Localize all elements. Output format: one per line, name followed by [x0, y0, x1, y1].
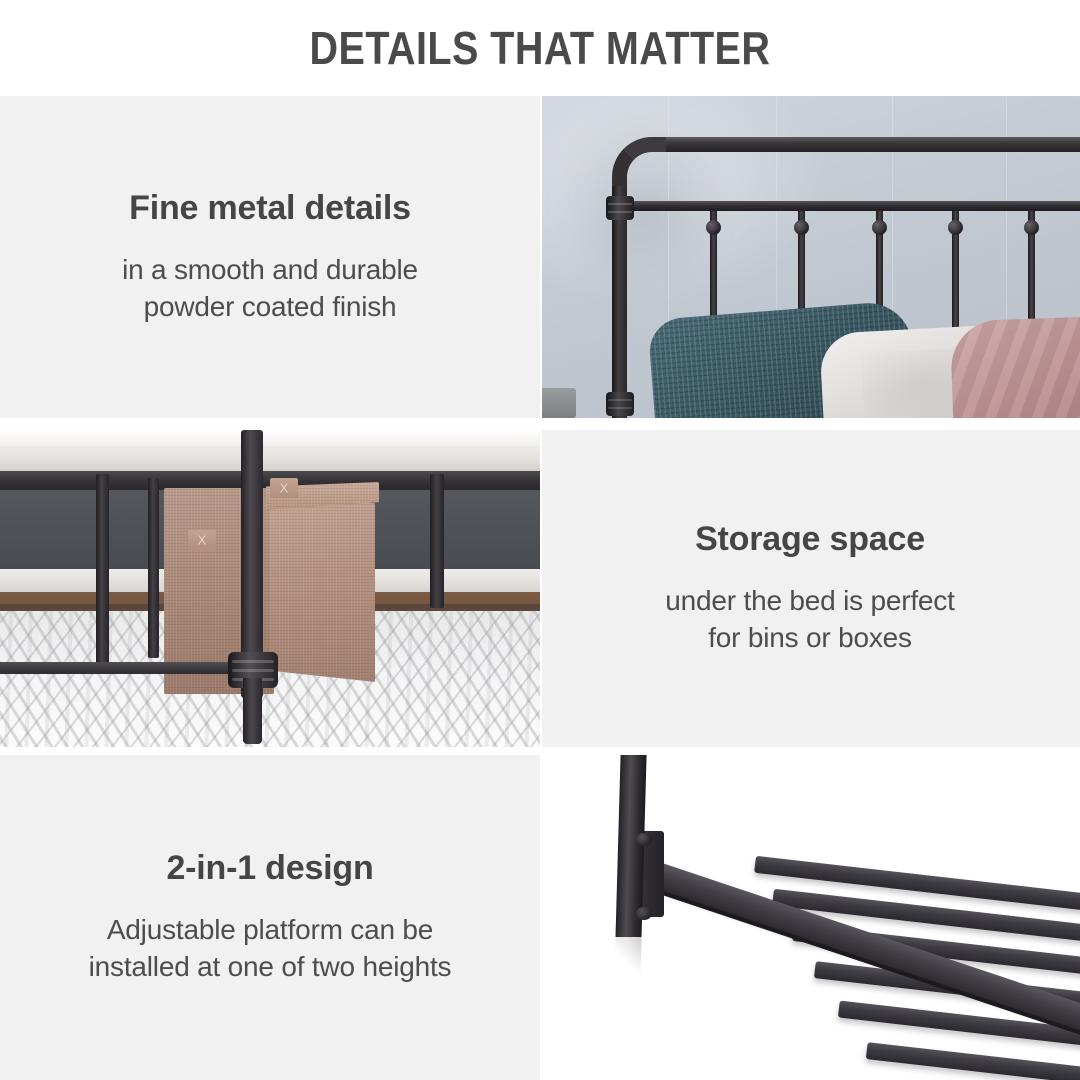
- feature-text-storage-space: Storage space under the bed is perfect f…: [540, 430, 1080, 747]
- bed-leg: [148, 478, 159, 658]
- headboard-post: [612, 186, 627, 418]
- collar-ring: [232, 669, 274, 672]
- page-title: DETAILS THAT MATTER: [310, 21, 771, 75]
- feature-subtext: under the bed is perfect for bins or box…: [665, 583, 954, 657]
- nightstand-edge: [540, 388, 576, 418]
- feature-row-3: 2-in-1 design Adjustable platform can be…: [0, 755, 1080, 1080]
- headboard-cross-rail: [626, 201, 1080, 211]
- header: DETAILS THAT MATTER: [0, 0, 1080, 96]
- headboard-collar: [606, 392, 634, 416]
- feature-text-2-in-1-design: 2-in-1 design Adjustable platform can be…: [0, 755, 540, 1080]
- headboard-collar: [606, 196, 634, 220]
- headboard-photo-canvas: [540, 96, 1080, 418]
- post-knot: [636, 833, 652, 846]
- feature-heading: Fine metal details: [129, 189, 411, 228]
- headboard-knob: [872, 220, 887, 235]
- post-knot: [636, 907, 652, 920]
- mattress-edge: [0, 430, 540, 446]
- headboard-knob: [706, 220, 721, 235]
- headboard-knob: [1024, 220, 1039, 235]
- bed-side-rail: [0, 662, 250, 674]
- headboard-knob: [948, 220, 963, 235]
- white-background-wash: [540, 937, 788, 1080]
- column-seam: [540, 755, 542, 1080]
- feature-row-1: Fine metal details in a smooth and durab…: [0, 96, 1080, 418]
- feature-subtext-line-1: in a smooth and durable: [122, 252, 418, 289]
- column-seam: [540, 430, 542, 747]
- headboard-top-rail: [646, 137, 1080, 152]
- feature-subtext-line-1: under the bed is perfect: [665, 583, 954, 620]
- bed-leg: [96, 474, 109, 672]
- feature-subtext-line-2: installed at one of two heights: [89, 949, 452, 986]
- bin-handle: [188, 530, 216, 550]
- feature-subtext: Adjustable platform can be installed at …: [89, 912, 452, 986]
- bin-fabric-texture: [270, 492, 375, 682]
- feature-subtext: in a smooth and durable powder coated fi…: [122, 252, 418, 326]
- pillow-rose: [950, 315, 1080, 418]
- headboard-knob: [794, 220, 809, 235]
- storage-bin: [270, 492, 375, 682]
- bed-frame-slats-photo: [540, 755, 1080, 1080]
- collar-ring: [232, 660, 274, 663]
- bed-post-foot: [243, 678, 262, 744]
- feature-subtext-line-2: for bins or boxes: [665, 620, 954, 657]
- infographic-page: DETAILS THAT MATTER Fine metal details i…: [0, 0, 1080, 1080]
- under-bed-storage-photo: [0, 430, 540, 747]
- bed-slat: [866, 1042, 1080, 1080]
- feature-heading: 2-in-1 design: [166, 849, 373, 888]
- feature-heading: Storage space: [695, 520, 925, 559]
- storage-photo-canvas: [0, 430, 540, 747]
- feature-subtext-line-1: Adjustable platform can be: [89, 912, 452, 949]
- feature-row-2: Storage space under the bed is perfect f…: [0, 430, 1080, 747]
- bin-handle: [270, 478, 298, 498]
- slats-photo-canvas: [540, 755, 1080, 1080]
- bed-leg: [430, 474, 444, 608]
- column-seam: [540, 96, 542, 418]
- feature-subtext-line-2: powder coated finish: [122, 289, 418, 326]
- feature-text-fine-metal-details: Fine metal details in a smooth and durab…: [0, 96, 540, 418]
- headboard-closeup-photo: [540, 96, 1080, 418]
